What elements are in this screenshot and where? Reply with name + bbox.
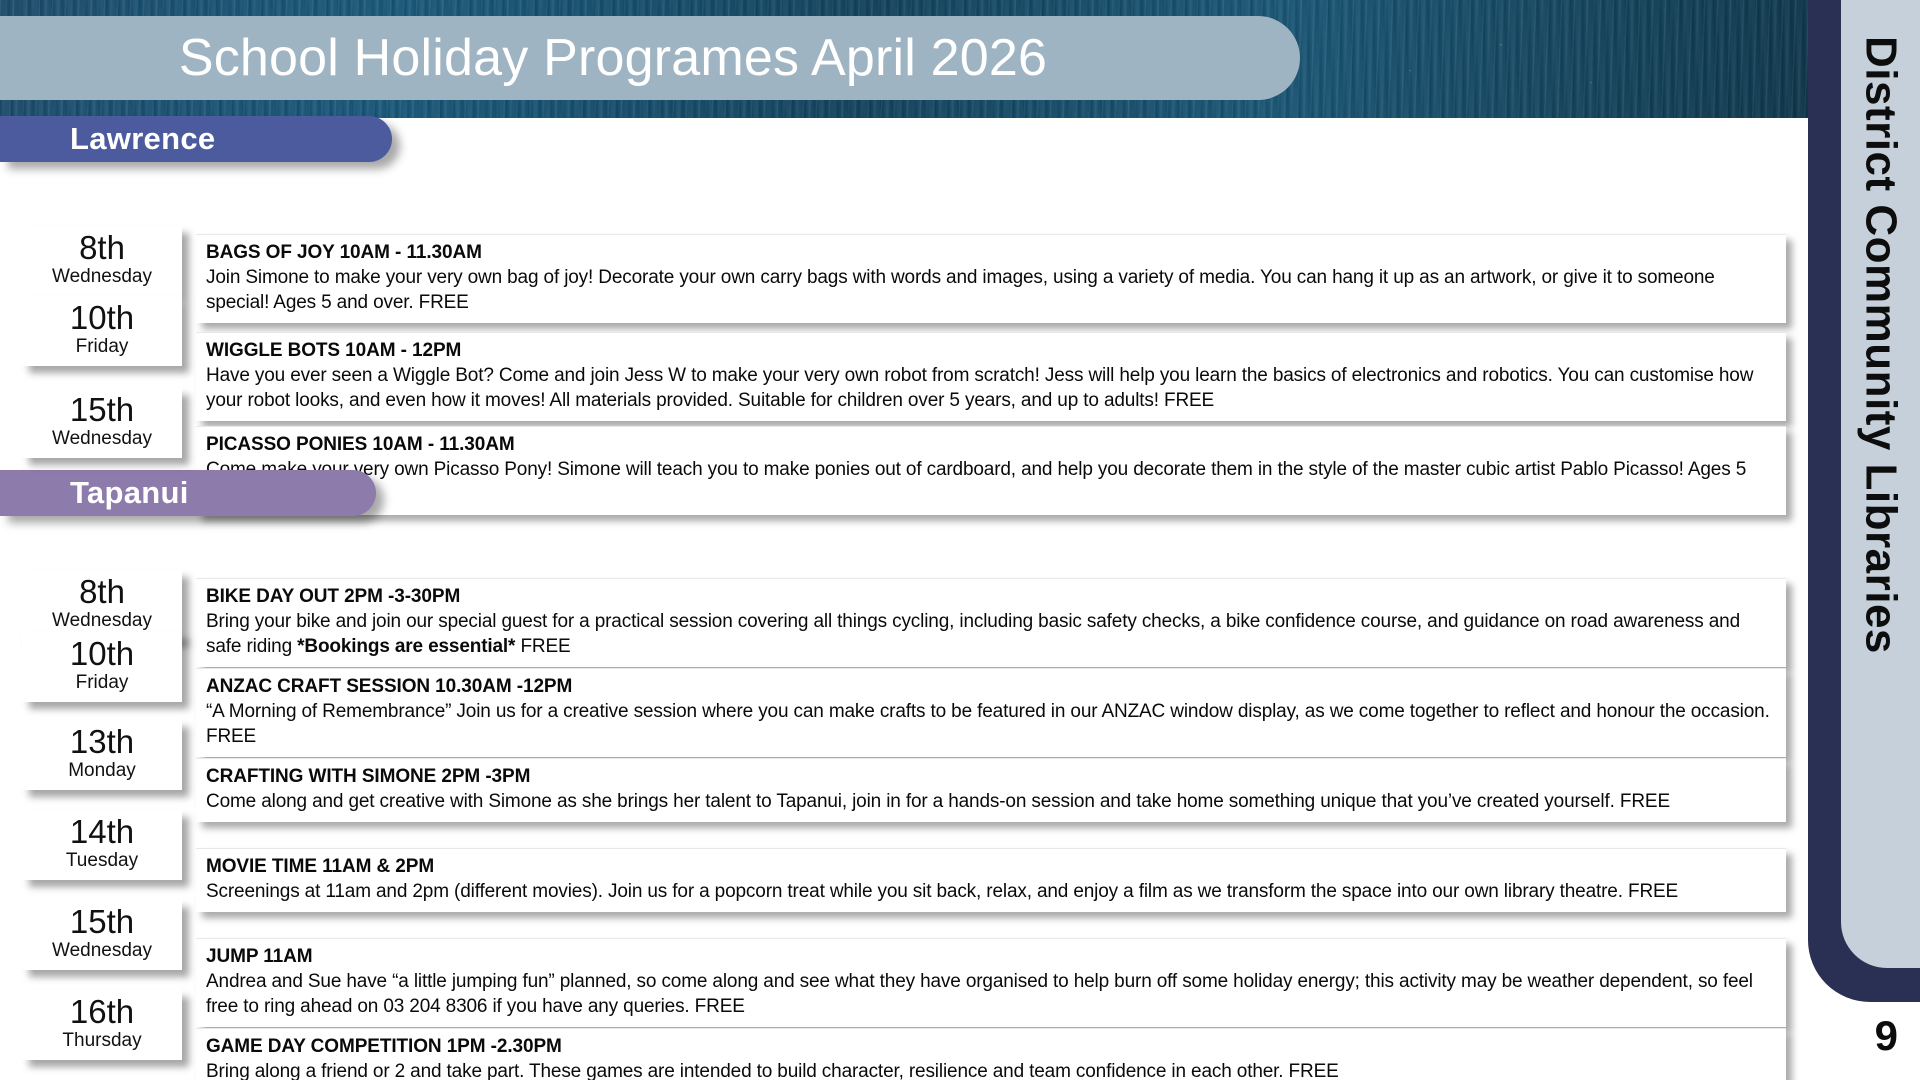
event-date-card: 10thFriday [22, 296, 182, 366]
event-row: 10thFridayWIGGLE BOTS 10AM - 12PMHave yo… [0, 332, 1808, 421]
event-date-number: 8th [22, 574, 182, 610]
event-date-card: 13thMonday [22, 720, 182, 790]
event-row: 16thThursdayGAME DAY COMPETITION 1PM -2.… [0, 1028, 1808, 1080]
event-date-number: 15th [22, 904, 182, 940]
event-date-card: 8thWednesday [22, 570, 182, 640]
event-title: WIGGLE BOTS 10AM - 12PM [206, 339, 1772, 363]
event-date-weekday: Monday [22, 760, 182, 782]
event-title: CRAFTING WITH SIMONE 2PM -3PM [206, 765, 1772, 789]
event-description: Join Simone to make your very own bag of… [206, 265, 1772, 315]
event-date-weekday: Wednesday [22, 610, 182, 632]
event-card: ANZAC CRAFT SESSION 10.30AM -12PM“A Morn… [196, 668, 1786, 757]
event-title: ANZAC CRAFT SESSION 10.30AM -12PM [206, 675, 1772, 699]
event-date-weekday: Tuesday [22, 850, 182, 872]
event-row: 14thTuesdayMOVIE TIME 11AM & 2PMScreenin… [0, 848, 1808, 912]
section-header-tapanui: Tapanui [0, 470, 376, 516]
event-date-weekday: Friday [22, 672, 182, 694]
page-number: 9 [1875, 1012, 1898, 1060]
event-row: 8thWednesdayBIKE DAY OUT 2PM -3-30PMBrin… [0, 578, 1808, 667]
event-date-number: 16th [22, 994, 182, 1030]
page-title: School Holiday Programes April 2026 [179, 28, 1081, 88]
event-row: 15thWednesdayJUMP 11AMAndrea and Sue hav… [0, 938, 1808, 1027]
event-title: BAGS OF JOY 10AM - 11.30AM [206, 241, 1772, 265]
event-description-tail: FREE [515, 636, 570, 657]
event-row: 13thMondayCRAFTING WITH SIMONE 2PM -3PMC… [0, 758, 1808, 822]
event-row: 8thWednesdayBAGS OF JOY 10AM - 11.30AMJo… [0, 234, 1808, 323]
event-title: GAME DAY COMPETITION 1PM -2.30PM [206, 1035, 1772, 1059]
section-title-lawrence: Lawrence [0, 121, 215, 157]
event-card: JUMP 11AMAndrea and Sue have “a little j… [196, 938, 1786, 1027]
section-header-lawrence: Lawrence [0, 116, 392, 162]
event-date-weekday: Wednesday [22, 940, 182, 962]
event-title: BIKE DAY OUT 2PM -3-30PM [206, 585, 1772, 609]
event-list-tapanui: 8thWednesdayBIKE DAY OUT 2PM -3-30PMBrin… [0, 526, 1808, 1080]
header-banner: School Holiday Programes April 2026 [0, 0, 1808, 118]
event-card: GAME DAY COMPETITION 1PM -2.30PMBring al… [196, 1028, 1786, 1080]
poster-page: School Holiday Programes April 2026 Dist… [0, 0, 1920, 1080]
event-date-card: 16thThursday [22, 990, 182, 1060]
event-date-number: 14th [22, 814, 182, 850]
event-date-card: 14thTuesday [22, 810, 182, 880]
sidebar-brand-text: District Community Libraries [1856, 36, 1906, 654]
section-title-tapanui: Tapanui [0, 475, 189, 511]
right-sidebar: District Community Libraries [1808, 0, 1920, 1002]
event-card: BIKE DAY OUT 2PM -3-30PMBring your bike … [196, 578, 1786, 667]
event-description-emphasis: *Bookings are essential* [297, 636, 515, 657]
sidebar-navy-frame: District Community Libraries [1808, 0, 1920, 1002]
event-description: Come along and get creative with Simone … [206, 789, 1772, 814]
event-date-weekday: Thursday [22, 1030, 182, 1052]
event-card: WIGGLE BOTS 10AM - 12PMHave you ever see… [196, 332, 1786, 421]
event-title: PICASSO PONIES 10AM - 11.30AM [206, 433, 1772, 457]
event-description: “A Morning of Remembrance” Join us for a… [206, 699, 1772, 749]
event-description: Bring your bike and join our special gue… [206, 609, 1772, 659]
event-date-number: 10th [22, 300, 182, 336]
event-date-number: 8th [22, 230, 182, 266]
event-card: BAGS OF JOY 10AM - 11.30AMJoin Simone to… [196, 234, 1786, 323]
event-description: Bring along a friend or 2 and take part.… [206, 1059, 1772, 1080]
title-pill: School Holiday Programes April 2026 [0, 16, 1300, 100]
event-date-number: 10th [22, 636, 182, 672]
event-date-card: 15thWednesday [22, 388, 182, 458]
section-tapanui: Tapanui 8thWednesdayBIKE DAY OUT 2PM -3-… [0, 470, 1808, 1080]
event-description: Have you ever seen a Wiggle Bot? Come an… [206, 363, 1772, 413]
event-title: MOVIE TIME 11AM & 2PM [206, 855, 1772, 879]
event-date-weekday: Wednesday [22, 428, 182, 450]
sidebar-brand-label: District Community Libraries [1841, 0, 1920, 968]
event-description: Screenings at 11am and 2pm (different mo… [206, 879, 1772, 904]
event-description: Andrea and Sue have “a little jumping fu… [206, 969, 1772, 1019]
event-title: JUMP 11AM [206, 945, 1772, 969]
event-card: CRAFTING WITH SIMONE 2PM -3PMCome along … [196, 758, 1786, 822]
event-date-card: 10thFriday [22, 632, 182, 702]
section-lawrence: Lawrence 8thWednesdayBAGS OF JOY 10AM - … [0, 116, 1808, 522]
event-date-number: 13th [22, 724, 182, 760]
event-date-card: 8thWednesday [22, 226, 182, 296]
event-date-weekday: Friday [22, 336, 182, 358]
event-date-number: 15th [22, 392, 182, 428]
event-date-card: 15thWednesday [22, 900, 182, 970]
event-date-weekday: Wednesday [22, 266, 182, 288]
event-row: 10thFridayANZAC CRAFT SESSION 10.30AM -1… [0, 668, 1808, 757]
event-card: MOVIE TIME 11AM & 2PMScreenings at 11am … [196, 848, 1786, 912]
